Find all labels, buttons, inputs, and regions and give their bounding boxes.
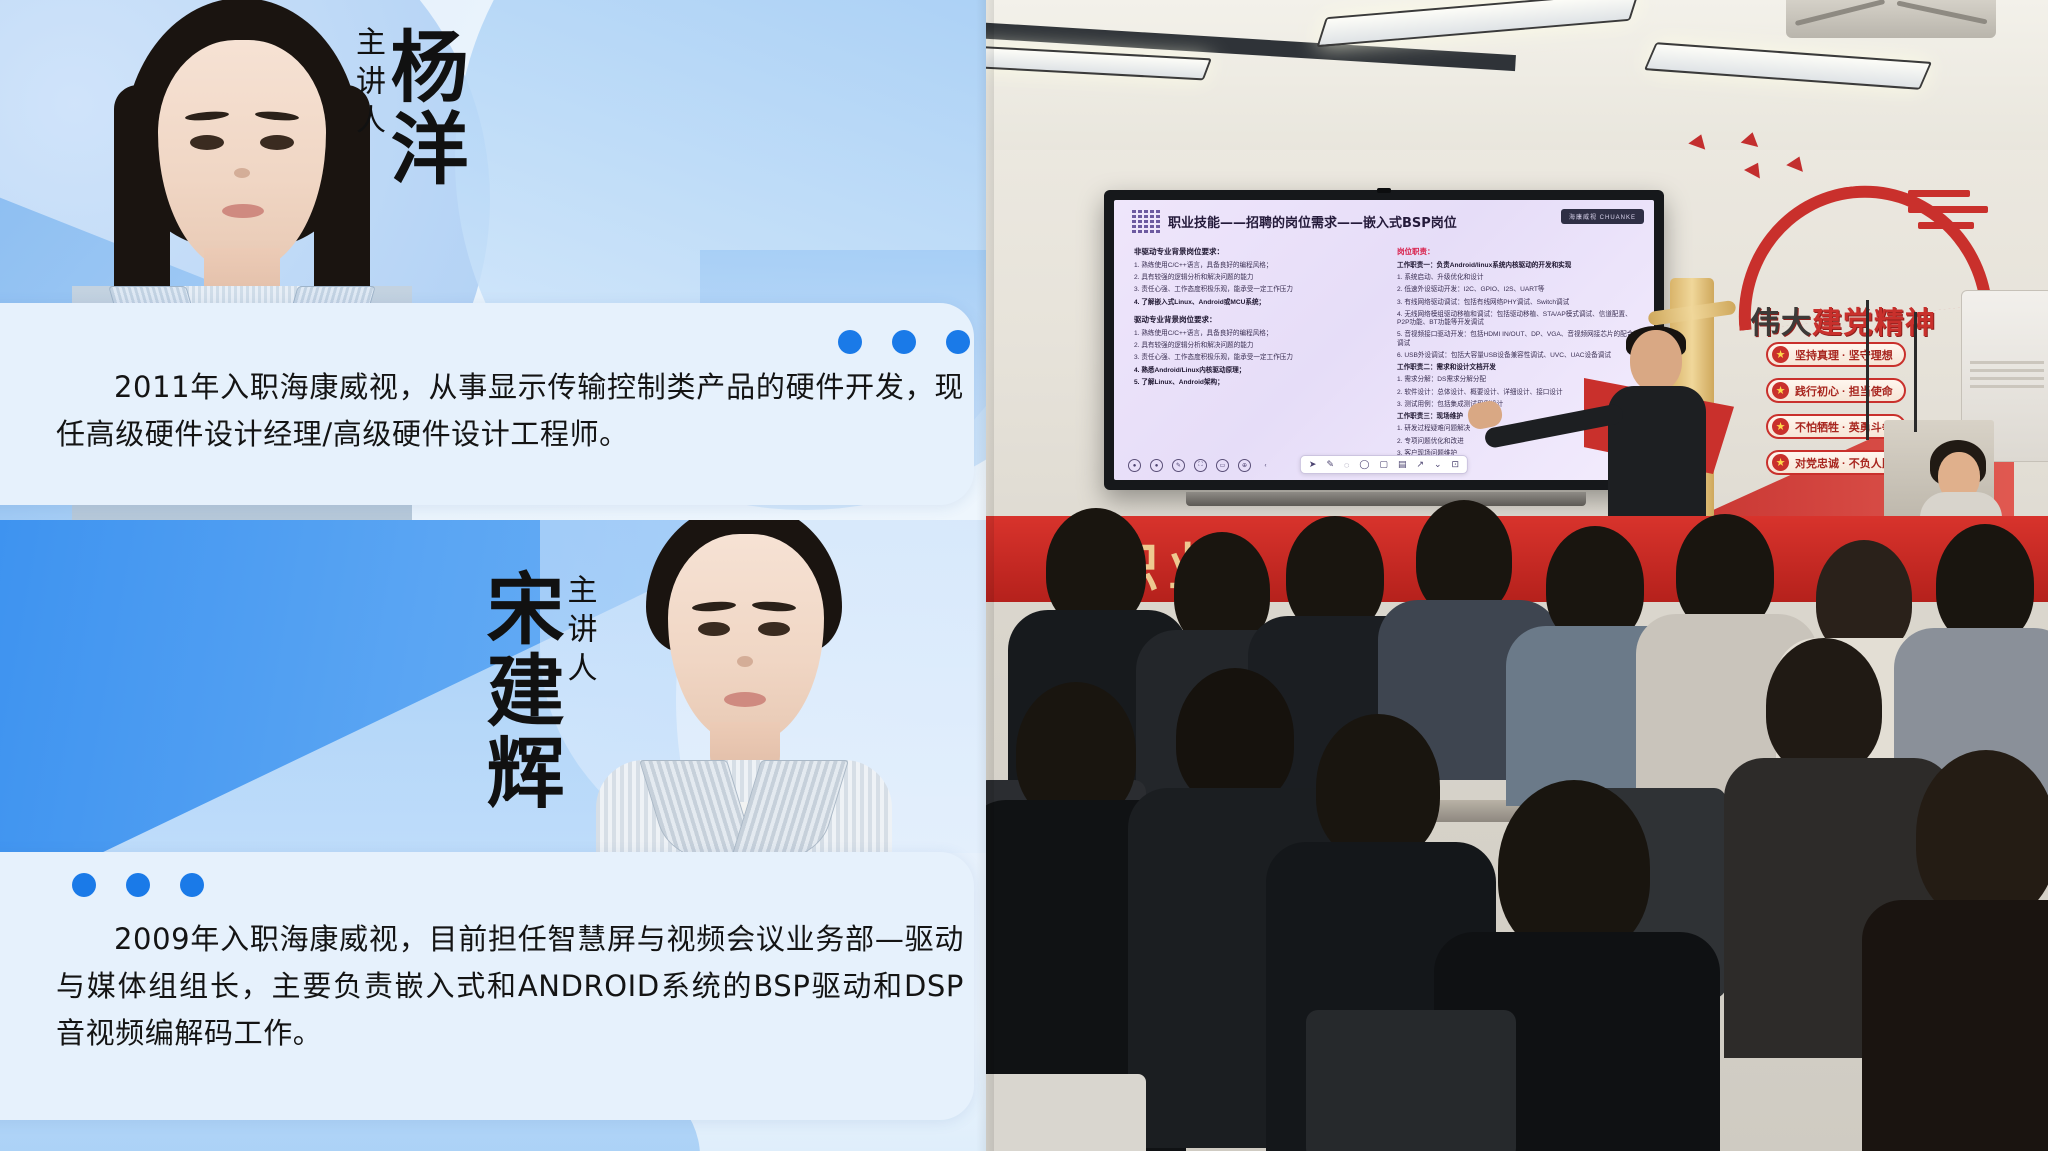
slide-list-item: 3. 责任心强、工作态度积极乐观，能承受一定工作压力 xyxy=(1134,286,1375,294)
speaker-1-name-block: 主讲人 杨洋 xyxy=(352,26,462,190)
slide-title: 职业技能——招聘的岗位需求——嵌入式BSP岗位 xyxy=(1168,212,1457,231)
speaker-2-bio: 2009年入职海康威视，目前担任智慧屏与视频会议业务部—驱动与媒体组组长，主要负… xyxy=(56,916,964,1057)
bird-icon xyxy=(1688,131,1709,149)
star-icon: ★ xyxy=(1772,454,1789,471)
speaker-2-bio-text: 2009年入职海康威视，目前担任智慧屏与视频会议业务部—驱动与媒体组组长，主要负… xyxy=(56,916,964,1057)
chair xyxy=(1306,1010,1516,1151)
slide-surface: 职业技能——招聘的岗位需求——嵌入式BSP岗位 海康威视 CHUANKE 非驱动… xyxy=(1114,200,1654,480)
microphone-stand xyxy=(1914,312,1917,432)
dot-icon xyxy=(892,330,916,354)
speaker-1-name: 杨洋 xyxy=(382,26,462,190)
slogan-text: 不怕牺牲 · 英勇斗争 xyxy=(1795,419,1893,435)
audience-head xyxy=(1498,780,1650,956)
share-icon[interactable]: ↗ xyxy=(1416,459,1424,470)
chevron-down-icon[interactable]: ⌄ xyxy=(1434,459,1442,470)
speaker-2-portrait xyxy=(594,520,894,853)
shape-icon[interactable]: ▢ xyxy=(1379,459,1388,470)
slide-list-item: 4. 无线网络模组驱动移植和调试：包括驱动移植、STA/AP模式调试、信道配置、… xyxy=(1397,311,1638,327)
smart-display: 职业技能——招聘的岗位需求——嵌入式BSP岗位 海康威视 CHUANKE 非驱动… xyxy=(1104,190,1664,490)
decorative-glyph xyxy=(1908,186,1992,232)
eraser-icon[interactable]: ◌ xyxy=(1344,460,1349,470)
camera-icon xyxy=(1377,188,1391,193)
speaker-2-name-block: 宋建辉 主讲人 xyxy=(478,568,594,814)
presenter-head xyxy=(1630,330,1682,392)
speaker-1-bio-text: 2011年入职海康威视，从事显示传输控制类产品的硬件开发，现任高级硬件设计经理/… xyxy=(56,364,964,458)
dot-icon xyxy=(180,873,204,897)
slide-list-item: 5. 了解Linux、Android架构； xyxy=(1134,379,1375,387)
speaker-2-hero: 宋建辉 主讲人 xyxy=(0,520,986,853)
slide-list-item: 4. 了解嵌入式Linux、Android或MCU系统； xyxy=(1134,299,1375,307)
slide-list-item: 3. 有线网络驱动调试：包括有线网络PHY调试、Switch调试 xyxy=(1397,299,1638,307)
slide-list-item: 1. 熟练使用C/C++语言，具备良好的编程风格； xyxy=(1134,330,1375,338)
slide-list-item: 2. 具有较强的逻辑分析和解决问题的能力 xyxy=(1134,274,1375,282)
bird-icon xyxy=(1741,130,1762,147)
audience-head xyxy=(1416,500,1512,616)
pen-icon[interactable]: ✎ xyxy=(1326,459,1334,470)
star-icon: ★ xyxy=(1772,346,1789,363)
dot-icon xyxy=(72,873,96,897)
speaker-2-dot-group xyxy=(72,873,204,897)
bird-icon xyxy=(1786,153,1808,172)
cursor-icon[interactable]: ➤ xyxy=(1309,459,1317,470)
star-icon: ★ xyxy=(1772,382,1789,399)
slogan-item: ★ 践行初心 · 担当使命 xyxy=(1766,378,1906,403)
slide-left-heading: 非驱动专业背景岗位要求： xyxy=(1134,246,1375,257)
slogan-item: ★ 坚持真理 · 坚守理想 xyxy=(1766,342,1906,367)
speaker-2-name: 宋建辉 xyxy=(478,568,558,814)
slide-list-item: 4. 熟悉Android/Linux内核驱动原理； xyxy=(1134,367,1375,375)
slide-list-item: 3. 责任心强、工作态度积极乐观，能承受一定工作压力 xyxy=(1134,354,1375,362)
slide-logo: 海康威视 CHUANKE xyxy=(1561,209,1644,224)
ceiling-fan xyxy=(1786,0,1996,38)
wall-art-title-main: 建党精神 xyxy=(1812,306,1936,341)
slide-list-item: 2. 具有较强的逻辑分析和解决问题的能力 xyxy=(1134,342,1375,350)
slide-list-item: 1. 熟练使用C/C++语言，具备良好的编程风格； xyxy=(1134,262,1375,270)
slide-left-column: 非驱动专业背景岗位要求： 1. 熟练使用C/C++语言，具备良好的编程风格； 2… xyxy=(1134,246,1375,462)
frame-icon[interactable]: ⊡ xyxy=(1452,459,1460,470)
lecture-photograph: 职业技能——招聘的岗位需求——嵌入式BSP岗位 海康威视 CHUANKE 非驱动… xyxy=(986,0,2048,1151)
audience-head xyxy=(1936,524,2034,644)
slide-right-heading: 岗位职责： xyxy=(1397,246,1638,257)
slide-left-heading-2: 驱动专业背景岗位要求： xyxy=(1134,314,1375,325)
dot-icon xyxy=(126,873,150,897)
slogan-text: 践行初心 · 担当使命 xyxy=(1795,383,1893,399)
note-icon[interactable]: ▤ xyxy=(1398,459,1407,470)
bird-icon xyxy=(1744,159,1766,179)
audience-head xyxy=(1766,638,1882,774)
slogan-text: 坚持真理 · 坚守理想 xyxy=(1795,347,1893,363)
wall-art-title: 伟大建党精神 xyxy=(1750,298,1936,342)
speaker-1-bio: 2011年入职海康威视，从事显示传输控制类产品的硬件开发，现任高级硬件设计经理/… xyxy=(56,364,964,458)
audience-area xyxy=(986,470,2048,1151)
speakers-panel: 主讲人 杨洋 2011年入职海康威视，从事显示传输控制类产品的硬件开发，现任高级… xyxy=(0,0,986,1151)
search-icon[interactable]: ◯ xyxy=(1359,459,1369,470)
audience-head xyxy=(1916,750,2048,920)
slide-duty-heading: 工作职责一：负责Android/linux系统内核驱动的开发和实现 xyxy=(1397,262,1638,270)
speaker-2-role-label: 主讲人 xyxy=(564,574,594,691)
slide-list-item: 1. 系统启动、升级优化和设计 xyxy=(1397,274,1638,282)
wall-art-title-prefix: 伟大 xyxy=(1750,306,1812,341)
slide-list-item: 2. 低速外设驱动开发：I2C、GPIO、I2S、UART等 xyxy=(1397,286,1638,294)
audience-torso xyxy=(1862,900,2048,1151)
poster-canvas: 主讲人 杨洋 2011年入职海康威视，从事显示传输控制类产品的硬件开发，现任高级… xyxy=(0,0,2048,1151)
star-icon: ★ xyxy=(1772,418,1789,435)
chair xyxy=(986,1074,1146,1151)
dot-icon xyxy=(946,330,970,354)
slogan-text: 对党忠诚 · 不负人民 xyxy=(1795,455,1893,471)
speaker-1-dot-group xyxy=(838,330,970,354)
microphone-stand xyxy=(1866,300,1869,440)
audience-head xyxy=(1316,714,1440,860)
dot-icon xyxy=(838,330,862,354)
grid-dots-icon xyxy=(1132,210,1160,233)
audience-head xyxy=(1176,668,1294,806)
